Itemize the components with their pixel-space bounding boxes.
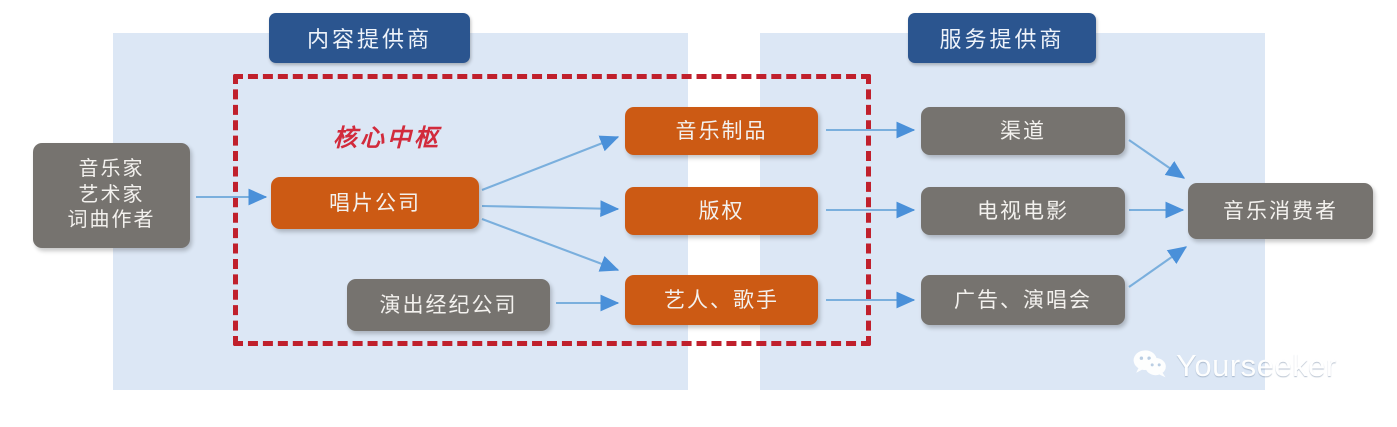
node-channel: 渠道: [921, 107, 1125, 155]
node-creators: 音乐家 艺术家 词曲作者: [33, 143, 190, 248]
diagram-canvas: 内容提供商 服务提供商 核心中枢 音乐家 艺术家 词曲作者 唱片公司 演出经纪公…: [0, 0, 1397, 427]
node-creators-line-2: 艺术家: [68, 183, 156, 209]
core-hub-annotation: 核心中枢: [333, 118, 441, 153]
node-record-label: 唱片公司: [271, 177, 479, 229]
node-music-products: 音乐制品: [625, 107, 818, 155]
node-tv-film: 电视电影: [921, 187, 1125, 235]
watermark: Yourseeker: [1133, 348, 1337, 384]
badge-service-provider: 服务提供商: [908, 13, 1096, 63]
node-ads-concerts: 广告、演唱会: [921, 275, 1125, 325]
watermark-text: Yourseeker: [1176, 348, 1337, 384]
node-music-consumers: 音乐消费者: [1188, 183, 1373, 239]
node-artists-singers: 艺人、歌手: [625, 275, 818, 325]
badge-content-provider: 内容提供商: [269, 13, 470, 63]
node-copyright: 版权: [625, 187, 818, 235]
node-performance-agency: 演出经纪公司: [347, 279, 550, 331]
wechat-icon: [1133, 349, 1167, 383]
node-creators-line-3: 词曲作者: [68, 208, 156, 234]
node-creators-line-1: 音乐家: [68, 157, 156, 183]
